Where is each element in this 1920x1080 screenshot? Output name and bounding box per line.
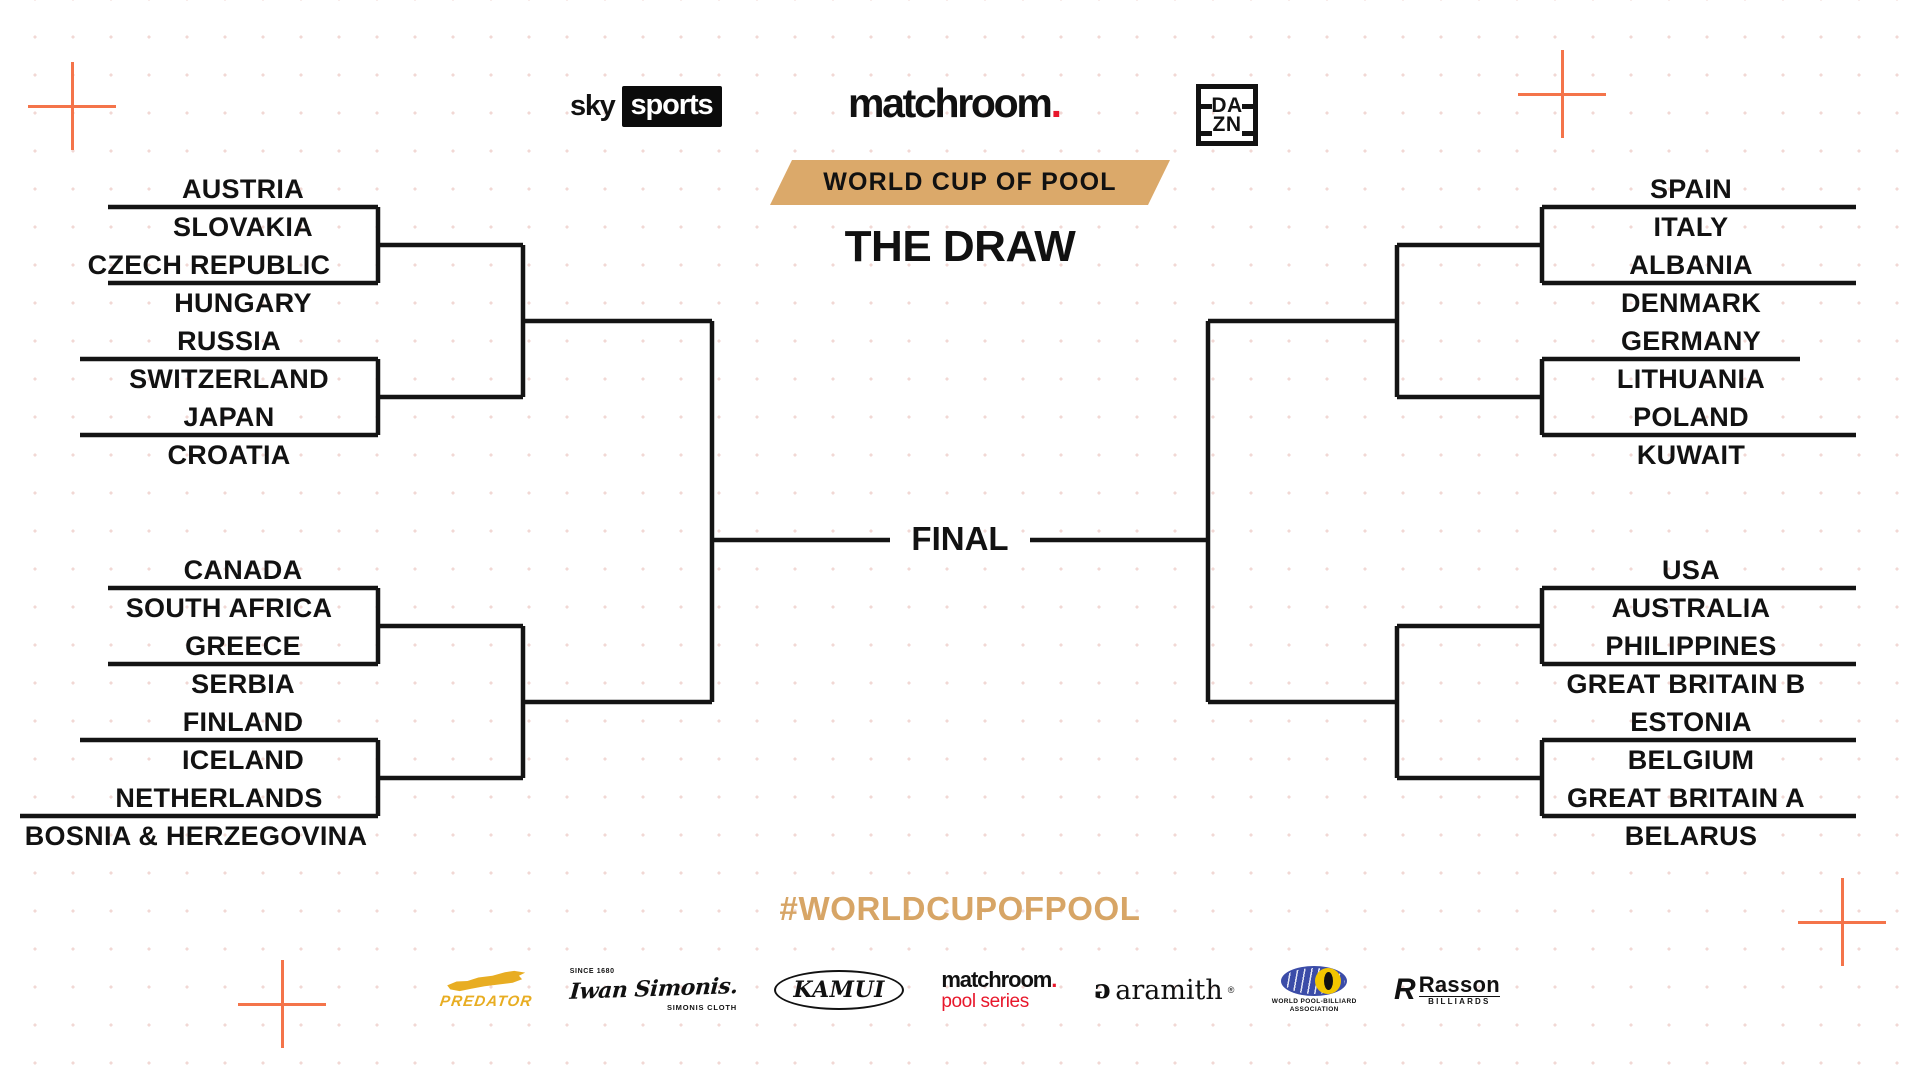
sponsor-aramith-logo: ɢ aramith® (1094, 959, 1235, 1021)
sponsor-mrps-dot: . (1051, 967, 1056, 992)
sponsor-wpa-caption: WORLD POOL-BILLIARD ASSOCIATION (1272, 998, 1357, 1014)
sponsor-simonis-since: SINCE 1680 (570, 968, 615, 975)
sponsor-simonis-caption: SIMONIS CLOTH (667, 1003, 737, 1012)
team-right-5-top: USA (1542, 557, 1840, 584)
sponsor-rasson-text: Rasson BILLIARDS (1419, 973, 1500, 1006)
team-left-4-top: JAPAN (80, 404, 378, 431)
team-left-5-top: CANADA (108, 557, 378, 584)
sponsor-simonis-signature: Iwan Simonis. (569, 973, 739, 1005)
team-right-5-bottom: AUSTRALIA (1542, 595, 1840, 622)
team-right-6-bottom: GREAT BRITAIN B (1512, 671, 1860, 698)
team-left-3-bottom: SWITZERLAND (80, 366, 378, 393)
team-right-6-top: PHILIPPINES (1542, 633, 1840, 660)
team-left-1-top: AUSTRIA (108, 176, 378, 203)
team-right-2-top: ALBANIA (1542, 252, 1840, 279)
team-left-6-bottom: SERBIA (108, 671, 378, 698)
eight-ball-icon (1315, 968, 1341, 994)
bracket-page: sky sports matchroom. DA ZN WORLD CUP OF… (0, 0, 1920, 1080)
team-right-8-top: GREAT BRITAIN A (1512, 785, 1860, 812)
team-left-8-bottom: BOSNIA & HERZEGOVINA (12, 823, 380, 850)
sponsor-mrps-word: matchroom (941, 967, 1051, 992)
sponsor-predator-label: PREDATOR (439, 993, 534, 1010)
team-right-1-bottom: ITALY (1542, 214, 1840, 241)
sponsor-mrps-bottom: pool series (941, 992, 1028, 1011)
sponsor-kamui-label: KAMUI (774, 970, 904, 1010)
sponsor-aramith-registered: ® (1228, 985, 1235, 995)
event-hashtag: #WORLDCUPOFPOOL (0, 890, 1920, 928)
rasson-mark-icon: R (1394, 973, 1413, 1007)
team-left-3-top: RUSSIA (80, 328, 378, 355)
sponsor-predator-logo: PREDATOR (440, 959, 532, 1021)
sponsor-wpa-caption-line1: WORLD POOL-BILLIARD (1272, 998, 1357, 1006)
team-right-3-top: GERMANY (1542, 328, 1840, 355)
globe-icon (1281, 966, 1347, 996)
sponsor-iwan-simonis-logo: SINCE 1680 Iwan Simonis. SIMONIS CLOTH (570, 959, 737, 1021)
team-left-7-top: FINLAND (108, 709, 378, 736)
team-left-5-bottom: SOUTH AFRICA (80, 595, 378, 622)
team-right-4-bottom: KUWAIT (1542, 442, 1840, 469)
team-left-4-bottom: CROATIA (80, 442, 378, 469)
sponsor-aramith-label: aramith (1115, 975, 1223, 1006)
final-label: FINAL (896, 520, 1024, 558)
panther-icon (447, 970, 525, 992)
team-right-8-bottom: BELARUS (1542, 823, 1840, 850)
sponsor-mrps-top: matchroom. (941, 969, 1056, 991)
aramith-mark-icon: ɢ (1094, 975, 1111, 1005)
team-right-7-top: ESTONIA (1542, 709, 1840, 736)
team-left-6-top: GREECE (108, 633, 378, 660)
sponsor-kamui-logo: KAMUI (774, 959, 904, 1021)
team-right-2-bottom: DENMARK (1542, 290, 1840, 317)
sponsor-matchroom-pool-series-logo: matchroom. pool series (941, 959, 1056, 1021)
team-left-1-bottom: SLOVAKIA (108, 214, 378, 241)
team-right-1-top: SPAIN (1542, 176, 1840, 203)
sponsor-rasson-sub: BILLIARDS (1419, 996, 1500, 1006)
sponsor-rasson-label: Rasson (1419, 973, 1500, 996)
team-right-7-bottom: BELGIUM (1542, 747, 1840, 774)
team-right-4-top: POLAND (1542, 404, 1840, 431)
sponsor-strip: PREDATOR SINCE 1680 Iwan Simonis. SIMONI… (440, 955, 1500, 1025)
team-right-3-bottom: LITHUANIA (1542, 366, 1840, 393)
team-left-2-bottom: HUNGARY (108, 290, 378, 317)
sponsor-wpa-caption-line2: ASSOCIATION (1272, 1006, 1357, 1014)
team-left-8-top: NETHERLANDS (60, 785, 378, 812)
team-left-2-top: CZECH REPUBLIC (40, 252, 378, 279)
sponsor-wpa-logo: WORLD POOL-BILLIARD ASSOCIATION (1272, 959, 1357, 1021)
sponsor-rasson-logo: R Rasson BILLIARDS (1394, 959, 1500, 1021)
team-left-7-bottom: ICELAND (108, 747, 378, 774)
